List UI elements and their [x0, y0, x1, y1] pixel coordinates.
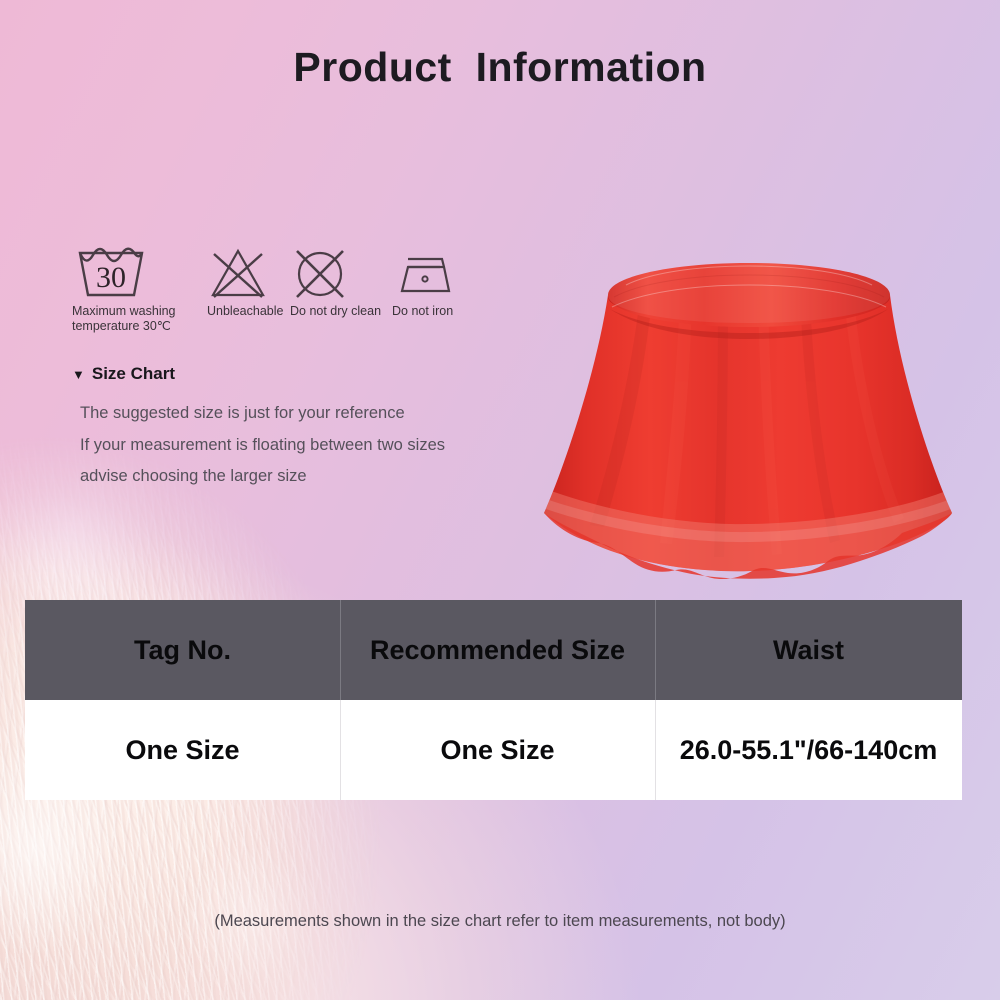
size-chart-table: Tag No. Recommended Size Waist One Size …: [25, 600, 962, 800]
table-header-recommended-size: Recommended Size: [340, 600, 655, 700]
table-header-tag-no: Tag No.: [25, 600, 340, 700]
care-item-washing: 30 Maximum washing temperature 30℃: [72, 243, 176, 335]
caret-down-icon: ▼: [72, 368, 85, 381]
table-cell-waist: 26.0-55.1"/66-140cm: [655, 700, 962, 800]
care-label-dry-clean: Do not dry clean: [290, 304, 381, 319]
measurements-footnote: (Measurements shown in the size chart re…: [0, 912, 1000, 931]
red-mesh-mini-skirt-photo: [500, 225, 970, 600]
care-item-iron: Do not iron: [392, 243, 458, 319]
product-information-page: Product Information 30 Maximum washing t…: [0, 0, 1000, 1000]
care-label-washing: Maximum washing temperature 30℃: [72, 304, 176, 335]
table-row: One Size One Size 26.0-55.1"/66-140cm: [25, 700, 962, 800]
care-label-iron: Do not iron: [392, 304, 458, 319]
no-dry-clean-icon: [290, 243, 381, 301]
care-item-bleach: Unbleachable: [207, 243, 283, 319]
table-cell-recommended-size: One Size: [340, 700, 655, 800]
care-label-bleach: Unbleachable: [207, 304, 283, 319]
table-cell-tag-no: One Size: [25, 700, 340, 800]
wash-30-icon: 30: [72, 243, 176, 301]
no-bleach-icon: [207, 243, 283, 301]
care-item-dry-clean: Do not dry clean: [290, 243, 381, 319]
size-chart-heading-label: Size Chart: [92, 364, 175, 384]
page-title: Product Information: [0, 44, 1000, 91]
table-header-waist: Waist: [655, 600, 962, 700]
no-iron-icon: [392, 243, 458, 301]
table-header-row: Tag No. Recommended Size Waist: [25, 600, 962, 700]
size-chart-heading[interactable]: ▼ Size Chart: [72, 364, 175, 384]
wash-temp-value: 30: [96, 261, 126, 294]
